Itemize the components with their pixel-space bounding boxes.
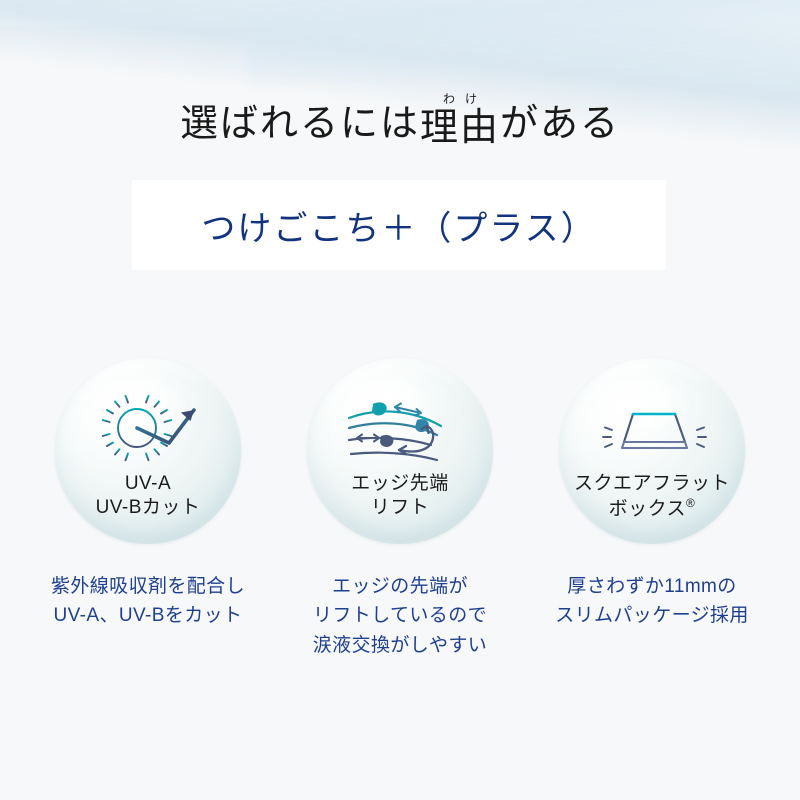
decorative-blue-band-secondary bbox=[232, 0, 800, 96]
feature-bubble: エッジ先端 リフト bbox=[307, 358, 493, 544]
feature-label: スクエアフラット ボックス® bbox=[574, 472, 730, 522]
headline-part-1: 選ばれるには bbox=[180, 103, 420, 145]
caption-line-1: 厚さわずか11mmの bbox=[555, 572, 749, 601]
feature-caption: 紫外線吸収剤を配合し UV-A、UV-Bをカット bbox=[51, 572, 245, 631]
caption-line-2: スリムパッケージ採用 bbox=[555, 601, 749, 630]
page-title: 選ばれるにはわけ理由がある bbox=[180, 92, 620, 147]
caption-line-3: 涙液交換がしやすい bbox=[313, 631, 487, 660]
square-flat-box-icon bbox=[597, 390, 707, 464]
promo-page: 選ばれるにはわけ理由がある つけごこち＋（プラス） bbox=[0, 0, 800, 800]
caption-line-2: UV-A、UV-Bをカット bbox=[51, 601, 245, 630]
caption-line-1: 紫外線吸収剤を配合し bbox=[51, 572, 245, 601]
feature-bubble: スクエアフラット ボックス® bbox=[559, 358, 745, 544]
feature-caption: エッジの先端が リフトしているので 涙液交換がしやすい bbox=[313, 572, 487, 660]
subtitle-panel: つけごこち＋（プラス） bbox=[132, 180, 666, 270]
uv-sun-block-icon bbox=[93, 390, 203, 464]
ruby-reading: わけ bbox=[433, 93, 487, 107]
feature-label-line1: エッジ先端 bbox=[351, 472, 449, 496]
top-white-strip bbox=[0, 0, 800, 26]
ruby-annotated-riyuu: わけ理由 bbox=[420, 93, 500, 147]
feature-label-line1: UV-A bbox=[96, 472, 201, 496]
caption-line-2: リフトしているので bbox=[313, 601, 487, 630]
feature-edge-lift: エッジ先端 リフト エッジの先端が リフトしているので 涙液交換がしやすい bbox=[274, 358, 526, 660]
caption-line-1: エッジの先端が bbox=[313, 572, 487, 601]
headline-container: 選ばれるにはわけ理由がある bbox=[0, 92, 800, 147]
feature-label-line2: ボックス bbox=[609, 499, 686, 520]
feature-uv-cut: UV-A UV-Bカット 紫外線吸収剤を配合し UV-A、UV-Bをカット bbox=[22, 358, 274, 660]
feature-square-flat-box: スクエアフラット ボックス® 厚さわずか11mmの スリムパッケージ採用 bbox=[526, 358, 778, 660]
registered-trademark-mark: ® bbox=[686, 496, 695, 510]
feature-list: UV-A UV-Bカット 紫外線吸収剤を配合し UV-A、UV-Bをカット bbox=[0, 358, 800, 660]
feature-label: UV-A UV-Bカット bbox=[96, 472, 201, 521]
feature-label: エッジ先端 リフト bbox=[351, 472, 449, 521]
edge-lift-flow-icon bbox=[345, 390, 455, 464]
feature-label-line2: リフト bbox=[351, 496, 449, 520]
feature-label-line1: スクエアフラット bbox=[574, 472, 730, 496]
ruby-base: 理由 bbox=[420, 109, 500, 147]
headline-part-2: がある bbox=[500, 103, 620, 145]
subtitle-text: つけごこち＋（プラス） bbox=[201, 201, 596, 250]
feature-label-line2-wrap: ボックス® bbox=[574, 496, 730, 522]
feature-bubble: UV-A UV-Bカット bbox=[55, 358, 241, 544]
feature-caption: 厚さわずか11mmの スリムパッケージ採用 bbox=[555, 572, 749, 631]
feature-label-line2: UV-Bカット bbox=[96, 496, 201, 520]
